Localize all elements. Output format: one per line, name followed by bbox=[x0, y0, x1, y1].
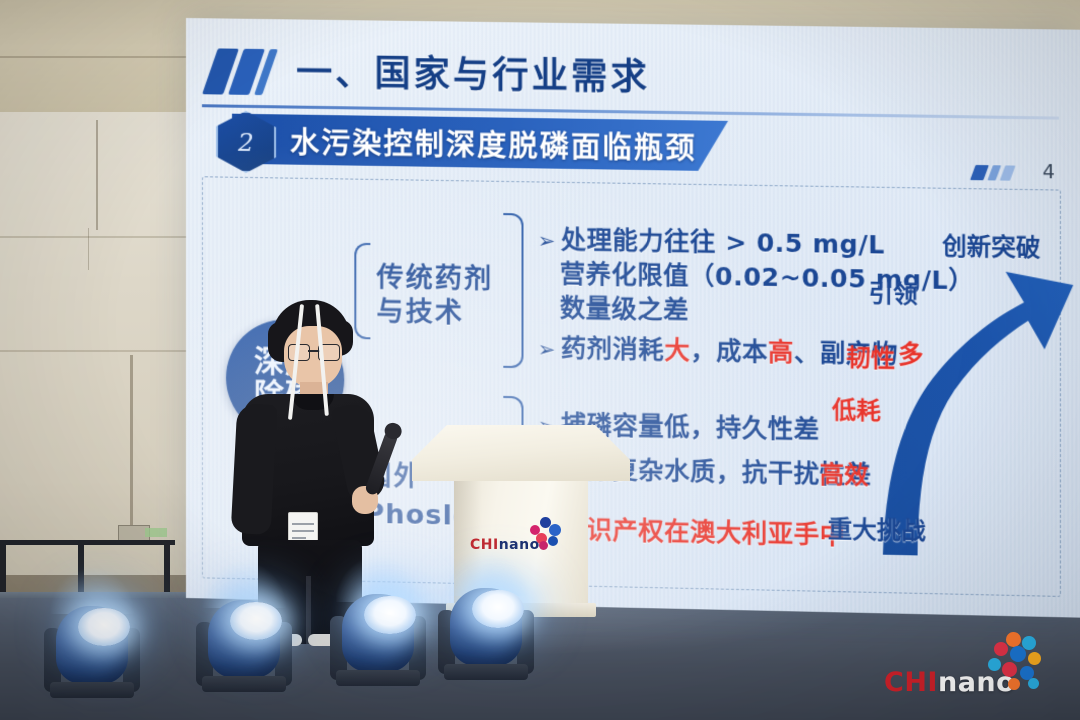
wall-crack-1 bbox=[96, 120, 98, 230]
floor-tape bbox=[145, 528, 167, 537]
keyword-resilience: 韧性 bbox=[846, 338, 895, 374]
brace-right-group1 bbox=[503, 213, 523, 368]
wall-conduit bbox=[130, 355, 133, 525]
moving-head-light-4 bbox=[438, 584, 534, 680]
podium-logo-chi: CHI bbox=[470, 537, 499, 553]
keyword-low-consumption: 低耗 bbox=[832, 390, 881, 426]
lanyard bbox=[232, 300, 364, 452]
wall-seam-2 bbox=[0, 350, 190, 352]
keyword-major-challenge: 重大挑战 bbox=[828, 509, 926, 546]
slide-section-title: 一、国家与行业需求 bbox=[296, 43, 650, 100]
page-slash-decoration bbox=[973, 165, 1018, 181]
event-molecule-icon bbox=[988, 632, 1050, 694]
moving-head-light-3 bbox=[330, 590, 426, 686]
event-watermark-logo: CHInano bbox=[882, 632, 1072, 712]
light-lens-icon bbox=[472, 590, 524, 628]
light-lens-icon bbox=[230, 602, 282, 640]
podium-molecule-icon bbox=[530, 517, 564, 551]
subtitle-banner-text: 水污染控制深度脱磷面临瓶颈 bbox=[290, 120, 697, 168]
reagent-seg-2: ，成本 bbox=[690, 336, 768, 367]
bullet-order-of-magnitude: 数量级之差 bbox=[560, 288, 689, 326]
light-lens-icon bbox=[78, 608, 130, 646]
light-lens-icon bbox=[364, 596, 416, 634]
conference-photo-scene: 一、国家与行业需求 2 水污染控制深度脱磷面临瓶颈 4 深度除磷 bbox=[0, 0, 1080, 720]
event-logo-chi: CHI bbox=[884, 667, 938, 698]
header-slash-decoration bbox=[210, 48, 282, 95]
moving-head-light-1 bbox=[44, 602, 140, 698]
reagent-seg-high: 高 bbox=[768, 337, 794, 367]
keyword-lead: 引领 bbox=[869, 273, 918, 309]
wall-crack-2 bbox=[88, 228, 89, 270]
speaker-presenter bbox=[232, 300, 384, 640]
keyword-high-efficiency: 高效 bbox=[820, 454, 869, 490]
bullet-marker-icon: ➢ bbox=[538, 337, 556, 361]
podium-top bbox=[412, 425, 630, 481]
moving-head-light-2 bbox=[196, 596, 292, 692]
keyword-innovation-breakthrough: 创新突破 bbox=[942, 226, 1040, 263]
reagent-seg-1: 药剂消耗 bbox=[561, 334, 664, 365]
bullet-marker-icon: ➢ bbox=[538, 229, 556, 253]
label-traditional-reagents: 传统药剂与技术 bbox=[376, 261, 493, 331]
reagent-seg-big: 大 bbox=[664, 336, 690, 366]
wall-seam-1 bbox=[0, 236, 190, 238]
slide-page-number: 4 bbox=[1042, 161, 1054, 183]
